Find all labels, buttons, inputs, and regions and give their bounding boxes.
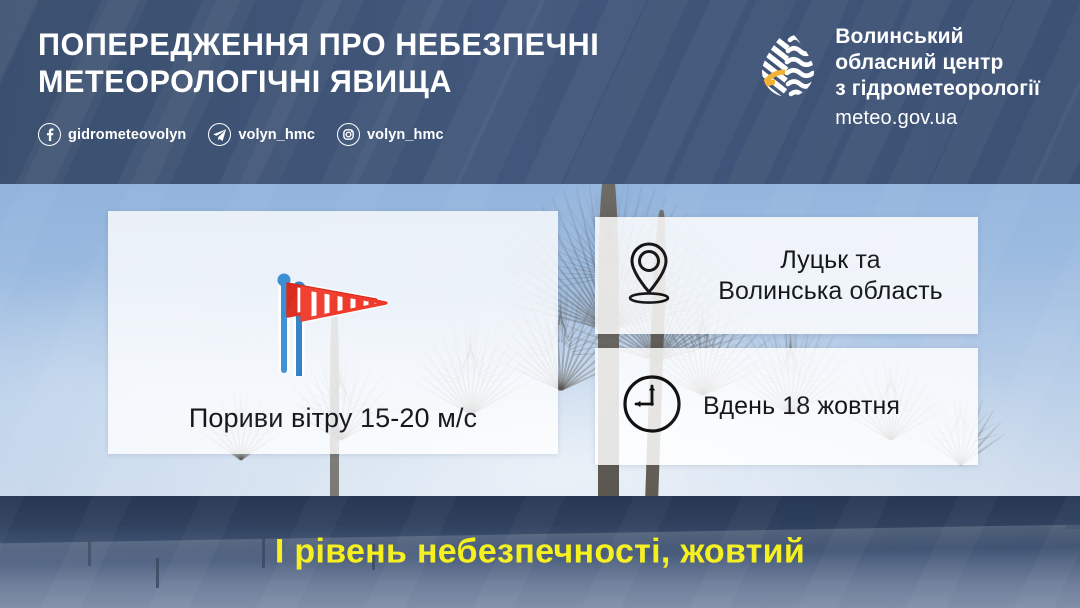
social-link-instagram[interactable]: volyn_hmc	[337, 123, 444, 146]
brand-text: Волинський обласний центр з гідрометеоро…	[835, 24, 1040, 131]
danger-level-text: І рівень небезпечності, жовтий	[0, 533, 1080, 572]
card-time: Вдень 18 жовтня	[595, 348, 978, 465]
header-bar: ПОПЕРЕДЖЕННЯ ПРО НЕБЕЗПЕЧНІ МЕТЕОРОЛОГІЧ…	[0, 0, 1080, 184]
map-pin-icon	[621, 240, 677, 311]
organization-website: meteo.gov.ua	[835, 105, 1040, 131]
water-droplet-logo	[757, 26, 819, 107]
facebook-icon	[38, 123, 61, 146]
social-handle-telegram: volyn_hmc	[238, 127, 315, 143]
social-link-facebook[interactable]: gidrometeovolyn	[38, 123, 186, 146]
brand-block: Волинський обласний центр з гідрометеоро…	[757, 22, 1040, 131]
card-location: Луцьк та Волинська область	[595, 217, 978, 334]
card-wind-warning: Пориви вітру 15-20 м/с	[108, 211, 558, 454]
title-block: ПОПЕРЕДЖЕННЯ ПРО НЕБЕЗПЕЧНІ МЕТЕОРОЛОГІЧ…	[38, 22, 617, 146]
social-handle-facebook: gidrometeovolyn	[68, 127, 186, 143]
footer-banner: І рівень небезпечності, жовтий	[0, 496, 1080, 608]
social-handle-instagram: volyn_hmc	[367, 127, 444, 143]
instagram-icon	[337, 123, 360, 146]
location-label: Луцьк та Волинська область	[697, 245, 964, 306]
gale-warning-pennant-icon	[258, 258, 408, 381]
weather-warning-poster: ПОПЕРЕДЖЕННЯ ПРО НЕБЕЗПЕЧНІ МЕТЕОРОЛОГІЧ…	[0, 0, 1080, 608]
telegram-icon	[208, 123, 231, 146]
social-links: gidrometeovolyn volyn_hmc	[38, 123, 617, 146]
page-title: ПОПЕРЕДЖЕННЯ ПРО НЕБЕЗПЕЧНІ МЕТЕОРОЛОГІЧ…	[38, 26, 599, 99]
social-link-telegram[interactable]: volyn_hmc	[208, 123, 315, 146]
organization-name: Волинський обласний центр з гідрометеоро…	[835, 24, 1040, 102]
clock-icon	[621, 373, 683, 440]
wind-warning-label: Пориви вітру 15-20 м/с	[189, 403, 477, 434]
time-label: Вдень 18 жовтня	[703, 391, 900, 422]
